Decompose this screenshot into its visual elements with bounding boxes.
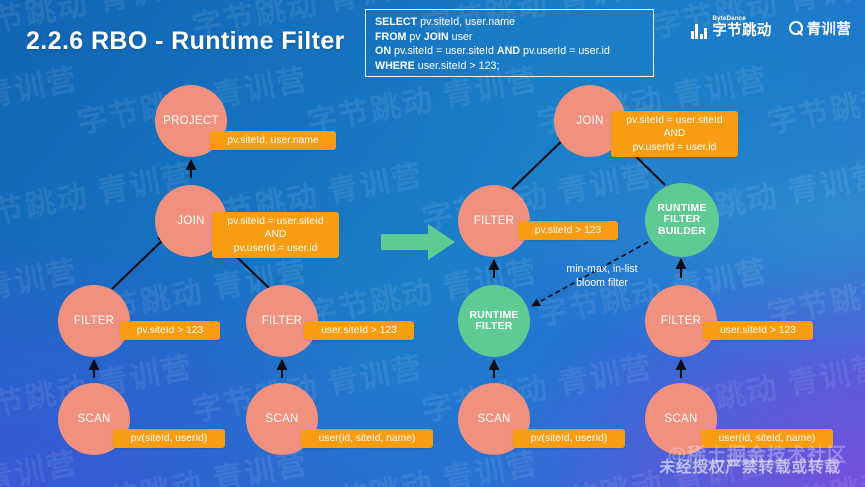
edge-rfilter1-to-join [512, 135, 568, 189]
plan-tag-r-tag-filter1: pv.siteId > 123 [518, 221, 618, 240]
plan-tag-l-tag-scan2: user(id, siteId, name) [301, 429, 433, 448]
plan-tag-r-tag-join: pv.siteId = user.siteId AND pv.userId = … [611, 111, 738, 157]
plan-node-label: JOIN [177, 215, 204, 227]
plan-node-label: PROJECT [163, 115, 219, 127]
plan-node-label: RUNTIMEFILTERBUILDER [657, 203, 706, 237]
plan-tag-r-tag-scan1: pv(siteId, userId) [513, 429, 625, 448]
plan-tag-r-tag-scan2: user(id, siteId, name) [701, 429, 833, 448]
transform-arrow [381, 222, 459, 262]
plan-node-label: FILTER [474, 215, 515, 227]
plan-node-label: FILTER [74, 315, 115, 327]
plan-node-l-filter1[interactable]: FILTER [58, 285, 130, 357]
plan-node-r-rfb[interactable]: RUNTIMEFILTERBUILDER [645, 183, 719, 257]
plan-node-label: RUNTIMEFILTER [469, 310, 518, 333]
plan-annotation-r-annot-filter: min-max, in-list bloom filter [547, 263, 657, 290]
plan-tag-l-tag-join: pv.siteId = user.siteId AND pv.userId = … [212, 212, 339, 258]
slide-canvas: 字节跳动 青训营字节跳动 青训营字节跳动 青训营字节跳动 青训营字节跳动 青训营… [0, 0, 865, 487]
plan-tag-r-tag-filter2: user.siteId > 123 [703, 321, 813, 340]
plan-tag-l-tag-scan1: pv(siteId, userId) [113, 429, 225, 448]
plan-tag-l-tag-project: pv.siteId, user.name [210, 131, 336, 150]
plan-node-r-rf[interactable]: RUNTIMEFILTER [458, 285, 530, 357]
edge-filter1-to-join [112, 235, 168, 289]
plan-node-label: SCAN [477, 413, 510, 425]
plan-tag-l-tag-filter1: pv.siteId > 123 [120, 321, 220, 340]
plan-node-label: SCAN [664, 413, 697, 425]
plan-node-label: SCAN [265, 413, 298, 425]
plan-tag-l-tag-filter2: user.siteId > 123 [304, 321, 414, 340]
plan-node-label: SCAN [77, 413, 110, 425]
plan-node-label: FILTER [262, 315, 303, 327]
plan-node-label: JOIN [576, 115, 603, 127]
plan-node-label: FILTER [661, 315, 702, 327]
